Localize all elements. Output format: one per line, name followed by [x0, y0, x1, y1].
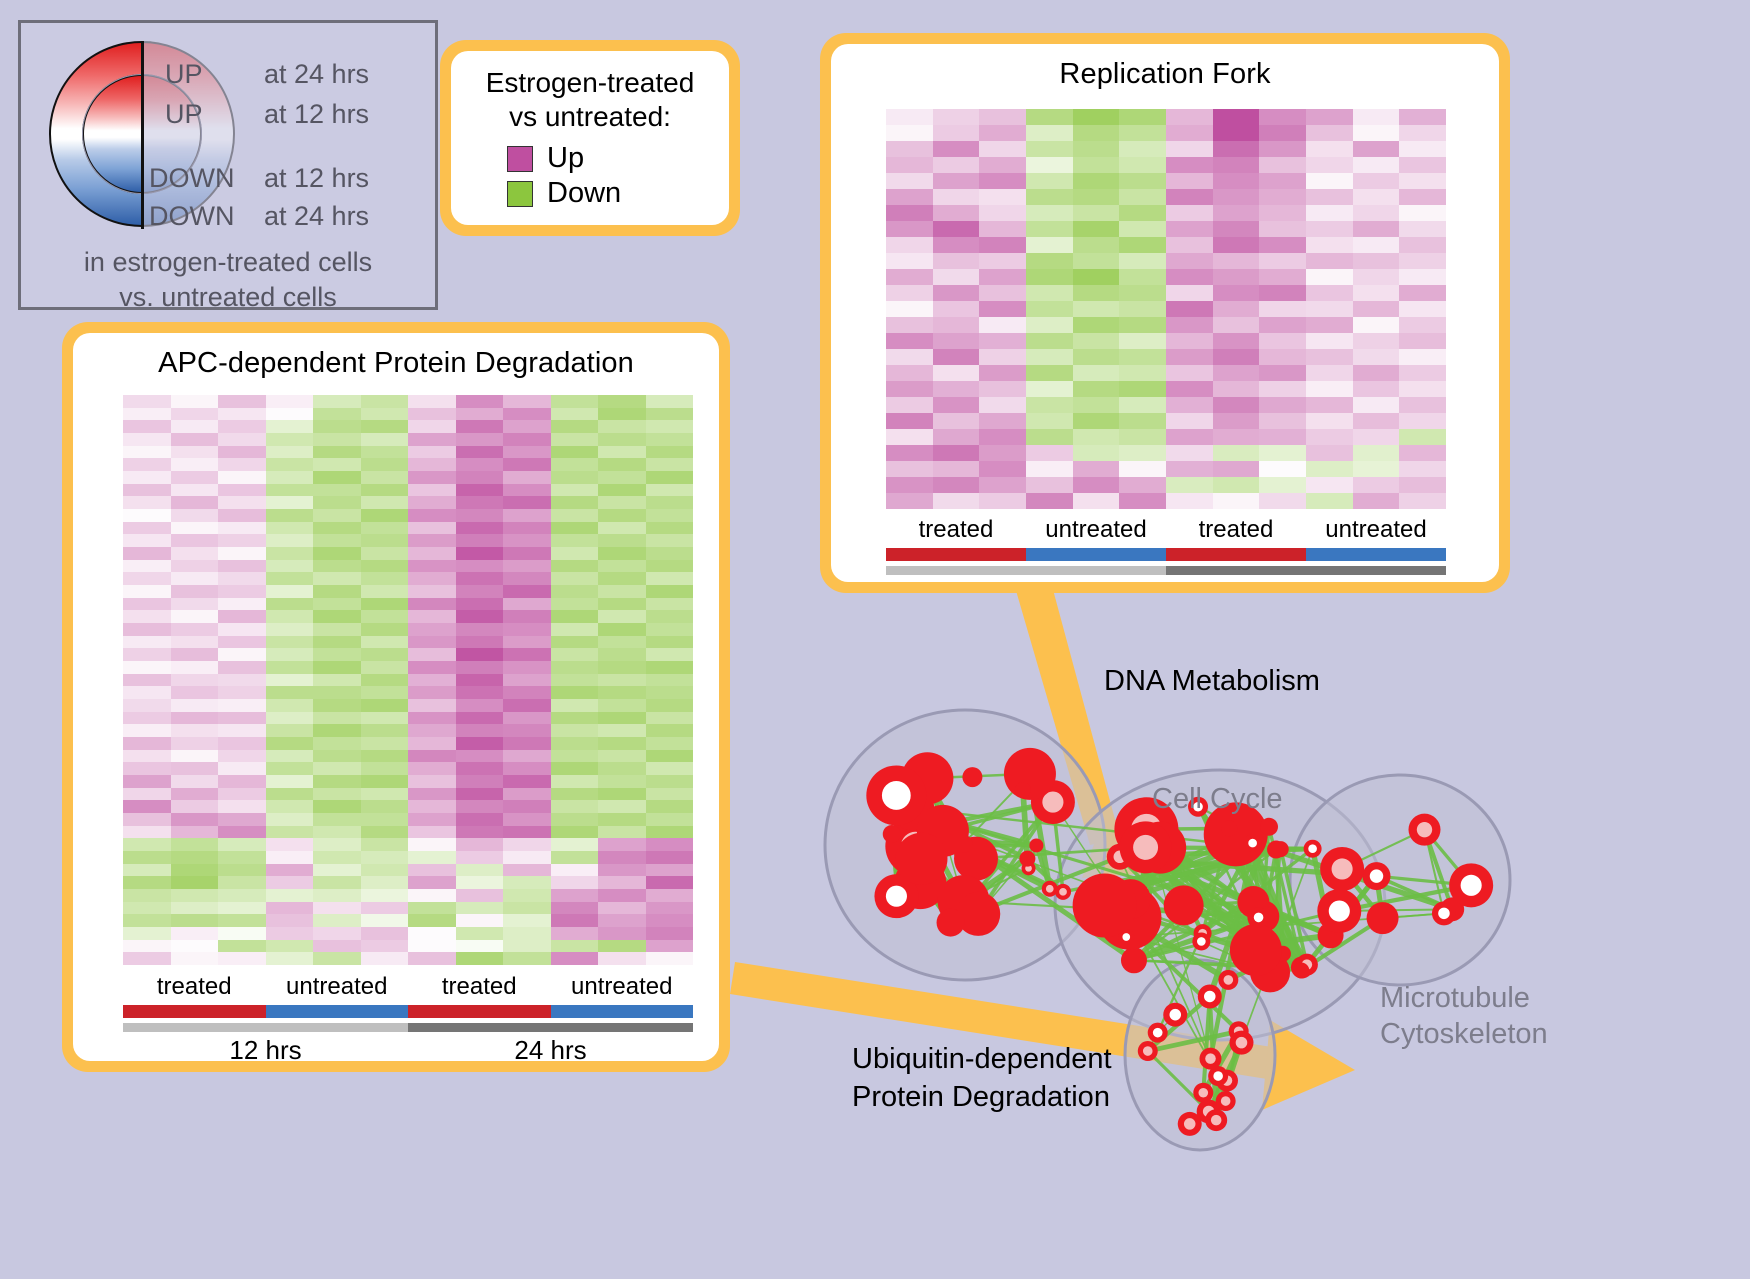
- heatmap-cell: [1306, 125, 1353, 141]
- heatmap-cell: [123, 572, 171, 585]
- heatmap-cell: [598, 826, 646, 839]
- heatmap-cell: [1073, 493, 1120, 509]
- heatmap-cell: [456, 484, 504, 497]
- heatmap-cell: [313, 927, 361, 940]
- heatmap-cell: [408, 433, 456, 446]
- heatmap-cell: [551, 914, 599, 927]
- heatmap-cell: [1166, 157, 1213, 173]
- heatmap-cell: [551, 699, 599, 712]
- heatmap-cell: [1353, 173, 1400, 189]
- network-node[interactable]: [1121, 947, 1147, 973]
- heatmap-cell: [598, 902, 646, 915]
- heatmap-cell: [646, 686, 694, 699]
- heatmap-cell: [1026, 429, 1073, 445]
- legend-state-down-12: DOWN: [149, 163, 234, 194]
- network-node[interactable]: [1260, 818, 1278, 836]
- heatmap-cell: [979, 109, 1026, 125]
- treatment-bar-segment-2: [1166, 548, 1306, 561]
- heatmap-cell: [1399, 285, 1446, 301]
- heatmap-cell: [1119, 205, 1166, 221]
- heatmap-cell: [123, 395, 171, 408]
- heatmap-cell: [1306, 381, 1353, 397]
- network-node[interactable]: [1164, 885, 1204, 925]
- heatmap-cell: [1166, 109, 1213, 125]
- heatmap-cell: [1259, 109, 1306, 125]
- heatmap-cell: [933, 173, 980, 189]
- network-node[interactable]: [1019, 851, 1035, 867]
- heatmap-cell: [1306, 301, 1353, 317]
- network-node-core: [1370, 869, 1383, 882]
- heatmap-cell: [456, 800, 504, 813]
- heatmap-cell: [313, 446, 361, 459]
- network-node[interactable]: [937, 909, 965, 937]
- heatmap-cell: [361, 674, 409, 687]
- heatmap-cell: [361, 471, 409, 484]
- heatmap-cell: [171, 572, 219, 585]
- heatmap-cell: [218, 661, 266, 674]
- heatmap-cell: [598, 433, 646, 446]
- heatmap-cell: [598, 699, 646, 712]
- heatmap-cell: [1026, 189, 1073, 205]
- heatmap-cell: [551, 560, 599, 573]
- heatmap-cell: [1259, 125, 1306, 141]
- heatmap-cell: [218, 610, 266, 623]
- heatmap-cell: [266, 534, 314, 547]
- heatmap-cell: [1026, 333, 1073, 349]
- heatmap-cell: [1213, 253, 1260, 269]
- heatmap-cell: [1073, 477, 1120, 493]
- heatmap-cell: [503, 902, 551, 915]
- heatmap-cell: [1026, 493, 1073, 509]
- heatmap-cell: [218, 952, 266, 965]
- treatment-bar-segment-3: [1306, 548, 1446, 561]
- heatmap-cell: [313, 471, 361, 484]
- heatmap-cell: [886, 237, 933, 253]
- heatmap-cell: [408, 572, 456, 585]
- heatmap-cell: [1399, 317, 1446, 333]
- heatmap-cell: [1306, 493, 1353, 509]
- heatmap-cell: [266, 712, 314, 725]
- heatmap-cell: [979, 269, 1026, 285]
- heatmap-cell: [1353, 285, 1400, 301]
- heatmap-cell: [1213, 141, 1260, 157]
- heatmap-cell: [313, 484, 361, 497]
- heatmap-cell: [1353, 381, 1400, 397]
- heatmap-cell: [933, 285, 980, 301]
- heatmap-cell: [218, 408, 266, 421]
- heatmap-cell: [598, 636, 646, 649]
- sample-label-3: untreated: [1306, 516, 1446, 544]
- network-node-core: [1170, 1009, 1182, 1021]
- heatmap-cell: [1213, 269, 1260, 285]
- heatmap-cell: [598, 623, 646, 636]
- heatmap-cell: [646, 674, 694, 687]
- heatmap-cell: [456, 750, 504, 763]
- heatmap-cell: [551, 952, 599, 965]
- heatmap-cell: [313, 699, 361, 712]
- heatmap-cell: [933, 125, 980, 141]
- heatmap-cell: [1353, 189, 1400, 205]
- heatmap-cell: [1166, 205, 1213, 221]
- heatmap-cell: [408, 610, 456, 623]
- heatmap-cell: [503, 952, 551, 965]
- heatmap-cell: [456, 408, 504, 421]
- heatmap-cell: [551, 788, 599, 801]
- heatmap-cell: [313, 864, 361, 877]
- heatmap-cell: [266, 433, 314, 446]
- heatmap-cell: [551, 864, 599, 877]
- heatmap-cell: [1166, 173, 1213, 189]
- heatmap-cell: [456, 661, 504, 674]
- heatmap-cell: [1259, 173, 1306, 189]
- treatment-bar-segment-0: [123, 1005, 266, 1018]
- heatmap-cell: [933, 157, 980, 173]
- heatmap-cell: [503, 496, 551, 509]
- heatmap-cell: [551, 800, 599, 813]
- heatmap-cell: [503, 433, 551, 446]
- heatmap-cell: [456, 940, 504, 953]
- heatmap-cell: [1399, 397, 1446, 413]
- heatmap-cell: [503, 838, 551, 851]
- apc-sample-labels: treateduntreatedtreateduntreated: [123, 973, 693, 1001]
- heatmap-cell: [1259, 365, 1306, 381]
- heatmap-cell: [218, 446, 266, 459]
- heatmap-cell: [218, 598, 266, 611]
- heatmap-cell: [408, 876, 456, 889]
- heatmap-cell: [598, 813, 646, 826]
- treatment-bar-segment-3: [551, 1005, 694, 1018]
- heatmap-cell: [598, 712, 646, 725]
- heatmap-cell: [1166, 269, 1213, 285]
- heatmap-cell: [218, 534, 266, 547]
- heatmap-cell: [361, 572, 409, 585]
- heatmap-cell: [266, 471, 314, 484]
- legend-title-line1: Estrogen-treated: [451, 66, 729, 100]
- network-node[interactable]: [1015, 782, 1031, 798]
- heatmap-cell: [1119, 301, 1166, 317]
- heatmap-cell: [408, 813, 456, 826]
- heatmap-cell: [361, 534, 409, 547]
- heatmap-cell: [456, 420, 504, 433]
- heatmap-cell: [551, 838, 599, 851]
- heatmap-cell: [171, 408, 219, 421]
- up-color-swatch: [507, 146, 533, 172]
- heatmap-cell: [1213, 381, 1260, 397]
- heatmap-cell: [123, 610, 171, 623]
- heatmap-cell: [123, 534, 171, 547]
- heatmap-cell: [598, 889, 646, 902]
- heatmap-cell: [646, 458, 694, 471]
- heatmap-cell: [1026, 173, 1073, 189]
- heatmap-cell: [551, 484, 599, 497]
- heatmap-cell: [1026, 237, 1073, 253]
- heatmap-cell: [1353, 477, 1400, 493]
- heatmap-cell: [1166, 493, 1213, 509]
- heatmap-cell: [979, 157, 1026, 173]
- heatmap-cell: [361, 496, 409, 509]
- heatmap-cell: [886, 173, 933, 189]
- heatmap-cell: [1213, 333, 1260, 349]
- heatmap-cell: [886, 477, 933, 493]
- heatmap-cell: [646, 699, 694, 712]
- heatmap-cell: [1119, 365, 1166, 381]
- heatmap-cell: [218, 522, 266, 535]
- heatmap-cell: [598, 509, 646, 522]
- heatmap-cell: [1399, 205, 1446, 221]
- heatmap-cell: [1026, 157, 1073, 173]
- heatmap-cell: [933, 301, 980, 317]
- network-node[interactable]: [956, 892, 1000, 936]
- heatmap-cell: [933, 365, 980, 381]
- heatmap-cell: [266, 699, 314, 712]
- sample-label-0: treated: [886, 516, 1026, 544]
- heatmap-cell: [598, 585, 646, 598]
- heatmap-cell: [1259, 285, 1306, 301]
- heatmap-cell: [503, 788, 551, 801]
- heatmap-cell: [218, 496, 266, 509]
- heatmap-cell: [886, 125, 933, 141]
- heatmap-cell: [503, 420, 551, 433]
- heatmap-cell: [886, 333, 933, 349]
- heatmap-cell: [456, 952, 504, 965]
- heatmap-cell: [1306, 221, 1353, 237]
- heatmap-cell: [551, 408, 599, 421]
- heatmap-cell: [551, 902, 599, 915]
- heatmap-cell: [456, 496, 504, 509]
- heatmap-cell: [979, 189, 1026, 205]
- heatmap-cell: [886, 269, 933, 285]
- heatmap-cell: [266, 952, 314, 965]
- sample-label-1: untreated: [266, 973, 409, 1001]
- network-node-core: [1332, 858, 1353, 879]
- heatmap-cell: [361, 458, 409, 471]
- heatmap-cell: [551, 610, 599, 623]
- heatmap-cell: [408, 522, 456, 535]
- heatmap-cell: [266, 813, 314, 826]
- heatmap-cell: [361, 800, 409, 813]
- legend-item-up: Up: [507, 142, 729, 175]
- network-node-core: [1211, 1115, 1222, 1126]
- heatmap-cell: [171, 762, 219, 775]
- heatmap-cell: [123, 952, 171, 965]
- figure-canvas: UP at 24 hrs UP at 12 hrs DOWN at 12 hrs…: [0, 0, 1750, 1279]
- heatmap-cell: [598, 471, 646, 484]
- heatmap-cell: [266, 762, 314, 775]
- heatmap-cell: [1213, 413, 1260, 429]
- heatmap-cell: [646, 838, 694, 851]
- heatmap-cell: [1213, 189, 1260, 205]
- heatmap-cell: [503, 522, 551, 535]
- heatmap-cell: [646, 737, 694, 750]
- heatmap-cell: [408, 471, 456, 484]
- heatmap-cell: [123, 674, 171, 687]
- heatmap-cell: [886, 413, 933, 429]
- heatmap-cell: [1353, 317, 1400, 333]
- network-node-core: [1153, 1028, 1163, 1038]
- heatmap-cell: [551, 661, 599, 674]
- heatmap-cell: [503, 699, 551, 712]
- heatmap-cell: [646, 724, 694, 737]
- heatmap-cell: [1306, 461, 1353, 477]
- heatmap-cell: [979, 365, 1026, 381]
- heatmap-cell: [408, 712, 456, 725]
- heatmap-cell: [1399, 461, 1446, 477]
- sample-label-2: treated: [1166, 516, 1306, 544]
- heatmap-cell: [313, 788, 361, 801]
- heatmap-cell: [456, 674, 504, 687]
- network-node-core: [1213, 1071, 1223, 1081]
- heatmap-cell: [456, 509, 504, 522]
- heatmap-cell: [933, 109, 980, 125]
- heatmap-cell: [266, 610, 314, 623]
- network-node-core: [1236, 1037, 1248, 1049]
- heatmap-cell: [598, 534, 646, 547]
- network-node[interactable]: [895, 833, 947, 885]
- heatmap-cell: [979, 333, 1026, 349]
- heatmap-cell: [598, 484, 646, 497]
- heatmap-cell: [313, 686, 361, 699]
- legend-time-down-24: at 24 hrs: [264, 201, 369, 232]
- heatmap-cell: [313, 838, 361, 851]
- heatmap-cell: [1259, 461, 1306, 477]
- heatmap-cell: [1073, 253, 1120, 269]
- heatmap-cell: [551, 547, 599, 560]
- heatmap-cell: [1119, 157, 1166, 173]
- heatmap-cell: [456, 395, 504, 408]
- heatmap-cell: [1073, 349, 1120, 365]
- network-node[interactable]: [1293, 963, 1309, 979]
- heatmap-cell: [313, 420, 361, 433]
- heatmap-cell: [646, 522, 694, 535]
- heatmap-cell: [503, 762, 551, 775]
- heatmap-cell: [886, 397, 933, 413]
- heatmap-cell: [456, 775, 504, 788]
- network-node[interactable]: [1230, 924, 1282, 976]
- heatmap-cell: [1259, 157, 1306, 173]
- heatmap-cell: [503, 458, 551, 471]
- heatmap-cell: [218, 724, 266, 737]
- heatmap-cell: [408, 864, 456, 877]
- heatmap-cell: [1259, 317, 1306, 333]
- heatmap-cell: [123, 889, 171, 902]
- donut-divider: [141, 41, 144, 229]
- heatmap-cell: [313, 762, 361, 775]
- heatmap-cell: [886, 221, 933, 237]
- heatmap-cell: [1399, 253, 1446, 269]
- network-node[interactable]: [1073, 874, 1137, 938]
- network-node[interactable]: [883, 825, 901, 843]
- heatmap-cell: [171, 534, 219, 547]
- sample-label-3: untreated: [551, 973, 694, 1001]
- heatmap-cell: [551, 623, 599, 636]
- heatmap-cell: [123, 737, 171, 750]
- heatmap-cell: [1353, 365, 1400, 381]
- heatmap-cell: [218, 686, 266, 699]
- heatmap-cell: [123, 686, 171, 699]
- network-node[interactable]: [962, 767, 982, 787]
- heatmap-cell: [1119, 173, 1166, 189]
- heatmap-cell: [1119, 221, 1166, 237]
- heatmap-cell: [123, 788, 171, 801]
- heatmap-cell: [1353, 445, 1400, 461]
- heatmap-cell: [933, 397, 980, 413]
- heatmap-cell: [456, 864, 504, 877]
- heatmap-cell: [979, 285, 1026, 301]
- heatmap-cell: [886, 317, 933, 333]
- heatmap-cell: [551, 636, 599, 649]
- heatmap-cell: [503, 674, 551, 687]
- network-node[interactable]: [1367, 902, 1399, 934]
- heatmap-cell: [408, 737, 456, 750]
- network-node-core: [1438, 908, 1450, 920]
- heatmap-cell: [171, 509, 219, 522]
- heatmap-cell: [313, 876, 361, 889]
- heatmap-cell: [456, 838, 504, 851]
- heatmap-cell: [218, 927, 266, 940]
- heatmap-cell: [408, 585, 456, 598]
- heatmap-cell: [646, 560, 694, 573]
- heatmap-cell: [551, 940, 599, 953]
- network-node[interactable]: [1029, 838, 1043, 852]
- heatmap-cell: [266, 636, 314, 649]
- heatmap-cell: [456, 471, 504, 484]
- heatmap-cell: [1213, 237, 1260, 253]
- heatmap-cell: [933, 141, 980, 157]
- heatmap-cell: [979, 301, 1026, 317]
- heatmap-cell: [1399, 269, 1446, 285]
- heatmap-cell: [598, 940, 646, 953]
- heatmap-cell: [361, 408, 409, 421]
- network-node[interactable]: [1221, 820, 1237, 836]
- heatmap-cell: [266, 940, 314, 953]
- heatmap-cell: [1399, 413, 1446, 429]
- heatmap-cell: [266, 661, 314, 674]
- heatmap-cell: [123, 648, 171, 661]
- heatmap-cell: [503, 940, 551, 953]
- heatmap-cell: [171, 547, 219, 560]
- heatmap-cell: [1259, 493, 1306, 509]
- heatmap-cell: [123, 496, 171, 509]
- heatmap-cell: [1026, 269, 1073, 285]
- heatmap-cell: [646, 800, 694, 813]
- heatmap-cell: [408, 889, 456, 902]
- heatmap-cell: [933, 429, 980, 445]
- heatmap-cell: [313, 648, 361, 661]
- heatmap-cell: [503, 813, 551, 826]
- heatmap-cell: [933, 477, 980, 493]
- heatmap-cell: [1119, 477, 1166, 493]
- heatmap-cell: [123, 560, 171, 573]
- network-node[interactable]: [1273, 841, 1289, 857]
- heatmap-cell: [503, 484, 551, 497]
- heatmap-cell: [598, 686, 646, 699]
- heatmap-cell: [171, 750, 219, 763]
- heatmap-cell: [171, 813, 219, 826]
- heatmap-cell: [503, 598, 551, 611]
- heatmap-cell: [1026, 461, 1073, 477]
- heatmap-cell: [1119, 461, 1166, 477]
- heatmap-cell: [171, 522, 219, 535]
- heatmap-cell: [1073, 429, 1120, 445]
- heatmap-cell: [408, 496, 456, 509]
- network-node-core: [1143, 1046, 1153, 1056]
- heatmap-cell: [1119, 189, 1166, 205]
- heatmap-cell: [933, 269, 980, 285]
- heatmap-cell: [979, 125, 1026, 141]
- heatmap-cell: [171, 458, 219, 471]
- heatmap-cell: [1166, 317, 1213, 333]
- heatmap-cell: [408, 648, 456, 661]
